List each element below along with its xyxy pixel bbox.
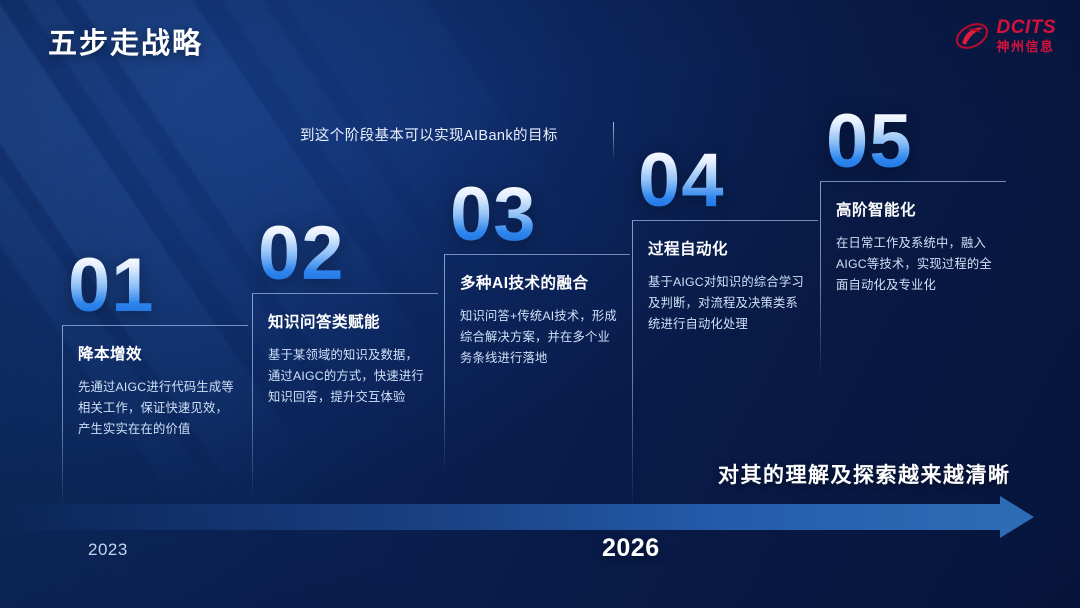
step-title: 多种AI技术的融合: [460, 271, 620, 293]
step-number: 01: [68, 251, 248, 321]
step-item-04[interactable]: 04 过程自动化 基于AIGC对知识的综合学习及判断，对流程及决策类系统进行自动…: [632, 146, 818, 335]
slide-canvas: 五步走战略 DCITS 神州信息 到这个阶段基本可以实现AIBank的目标 01…: [0, 0, 1080, 608]
step-title: 降本增效: [78, 342, 238, 364]
callout-divider: [613, 122, 614, 158]
step-body: 先通过AIGC进行代码生成等相关工作，保证快速见效，产生实实在在的价值: [78, 377, 238, 440]
step-card: 降本增效 先通过AIGC进行代码生成等相关工作，保证快速见效，产生实实在在的价值: [62, 325, 248, 440]
step-number: 04: [638, 146, 818, 216]
step-card: 高阶智能化 在日常工作及系统中，融入AIGC等技术，实现过程的全面自动化及专业化: [820, 181, 1006, 296]
step-number: 02: [258, 219, 438, 289]
brand-logo: DCITS 神州信息: [954, 18, 1057, 53]
timeline-year-end: 2026: [602, 534, 660, 563]
step-card: 过程自动化 基于AIGC对知识的综合学习及判断，对流程及决策类系统进行自动化处理: [632, 220, 818, 335]
timeline-tagline: 对其的理解及探索越来越清晰: [718, 459, 1011, 489]
step-title: 高阶智能化: [836, 198, 996, 220]
step-body: 知识问答+传统AI技术，形成综合解决方案，并在多个业务条线进行落地: [460, 306, 620, 369]
step-body: 基于AIGC对知识的综合学习及判断，对流程及决策类系统进行自动化处理: [648, 272, 808, 335]
step-number: 05: [826, 107, 1006, 177]
arrow-shaft: [0, 504, 1002, 530]
timeline-year-start: 2023: [88, 540, 128, 560]
step-body: 基于某领域的知识及数据，通过AIGC的方式，快速进行知识回答，提升交互体验: [268, 345, 428, 408]
step-item-05[interactable]: 05 高阶智能化 在日常工作及系统中，融入AIGC等技术，实现过程的全面自动化及…: [820, 107, 1006, 296]
logo-text-en: DCITS: [997, 18, 1057, 37]
arrow-head-icon: [1000, 496, 1034, 538]
step-number: 03: [450, 180, 630, 250]
step-title: 知识问答类赋能: [268, 310, 428, 332]
step-card: 多种AI技术的融合 知识问答+传统AI技术，形成综合解决方案，并在多个业务条线进…: [444, 254, 630, 369]
step-title: 过程自动化: [648, 237, 808, 259]
step-item-03[interactable]: 03 多种AI技术的融合 知识问答+传统AI技术，形成综合解决方案，并在多个业务…: [444, 180, 630, 369]
page-title: 五步走战略: [48, 20, 203, 62]
step-body: 在日常工作及系统中，融入AIGC等技术，实现过程的全面自动化及专业化: [836, 233, 996, 296]
swoosh-icon: [954, 19, 990, 53]
step-card: 知识问答类赋能 基于某领域的知识及数据，通过AIGC的方式，快速进行知识回答，提…: [252, 293, 438, 408]
timeline-arrow: [0, 496, 1040, 538]
logo-text-cn: 神州信息: [997, 40, 1057, 53]
step-item-02[interactable]: 02 知识问答类赋能 基于某领域的知识及数据，通过AIGC的方式，快速进行知识回…: [252, 219, 438, 408]
callout-text: 到这个阶段基本可以实现AIBank的目标: [300, 124, 558, 145]
step-item-01[interactable]: 01 降本增效 先通过AIGC进行代码生成等相关工作，保证快速见效，产生实实在在…: [62, 251, 248, 440]
